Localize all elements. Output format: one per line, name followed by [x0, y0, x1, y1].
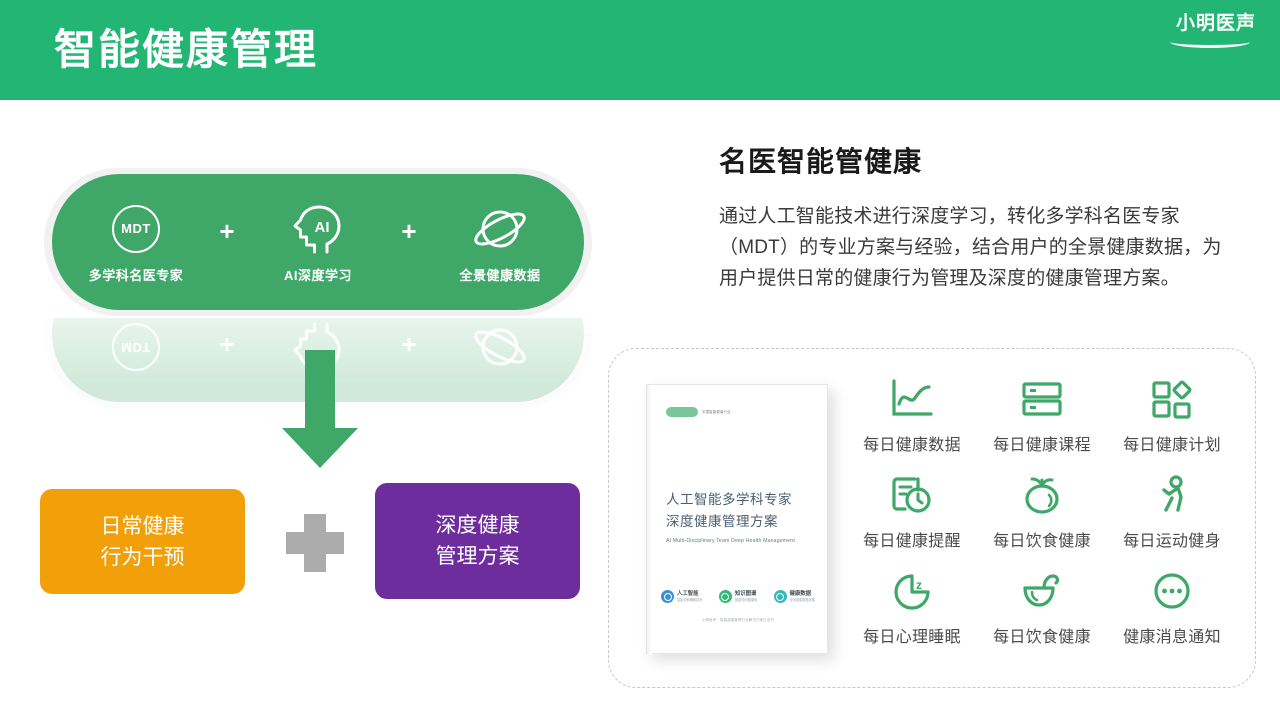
outcome-box-daily[interactable]: 日常健康 行为干预 [40, 489, 245, 594]
feature-cell-notification-label: 健康消息通知 [1123, 623, 1221, 647]
booklet-spine [647, 385, 652, 655]
capsule-item-ai: AI AI深度学习 [256, 201, 380, 284]
booklet-badge-3: 健康数据 全景健康数据采集 [774, 590, 816, 603]
booklet-logo-mark-icon [666, 407, 698, 417]
booklet-badge-2-name: 知识图谱 [735, 591, 757, 597]
feature-cell-health-reminder-label: 每日健康提醒 [863, 527, 961, 551]
tomato-icon [1020, 469, 1064, 521]
capsule-body: MDT 多学科名医专家 + AI AI深度学习 + [52, 174, 584, 310]
brand-logo-text: 小明医声 [1152, 12, 1256, 36]
booklet-badge-3-desc: 全景健康数据采集 [790, 597, 816, 603]
capsule-item-data: 全景健康数据 [438, 201, 562, 284]
booklet-badge-2-desc: 健康知识图谱库 [735, 597, 757, 603]
booklet-title: 人工智能多学科专家 深度健康管理方案 [666, 489, 816, 533]
capsule-item-mdt: MDT 多学科名医专家 [74, 201, 198, 284]
document-clock-icon [889, 469, 935, 521]
page-title: 智能健康管理 [54, 20, 318, 80]
svg-text:z: z [916, 578, 922, 592]
brand-logo-swoosh-icon [1170, 36, 1250, 48]
section-body-text: 通过人工智能技术进行深度学习，转化多学科名医专家（MDT）的专业方案与经验，结合… [719, 201, 1239, 294]
booklet-title-line1: 人工智能多学科专家 [666, 489, 816, 511]
feature-cell-exercise[interactable]: 每日运动健身 [1107, 469, 1237, 565]
booklet-badge-2-icon [719, 590, 732, 603]
feature-cell-health-plan[interactable]: 每日健康计划 [1107, 373, 1237, 469]
outcome-box-daily-line1: 日常健康 [101, 511, 185, 542]
feature-cell-diet-2[interactable]: 每日饮食健康 [977, 565, 1107, 661]
capsule-item-mdt-label: 多学科名医专家 [74, 265, 198, 284]
feature-cell-health-course-label: 每日健康课程 [993, 431, 1091, 455]
feature-cell-health-reminder[interactable]: 每日健康提醒 [847, 469, 977, 565]
feature-cell-health-course[interactable]: 每日健康课程 [977, 373, 1107, 469]
down-arrow-icon [278, 350, 362, 470]
plus-icon [286, 514, 344, 572]
planet-icon [438, 201, 562, 257]
brand-logo: 小明医声 [1152, 12, 1256, 46]
feature-cell-health-plan-label: 每日健康计划 [1123, 431, 1221, 455]
booklet-title-line2: 深度健康管理方案 [666, 511, 816, 533]
feature-cell-diet-1-label: 每日饮食健康 [993, 527, 1091, 551]
moon-sleep-icon: z [890, 565, 934, 617]
outcome-box-deep[interactable]: 深度健康 管理方案 [375, 483, 580, 599]
booklet-footer: 小明医声 · 智能健康管理行业解决方案白皮书 [647, 617, 829, 622]
line-chart-icon [889, 373, 935, 425]
feature-cell-diet-2-label: 每日饮食健康 [993, 623, 1091, 647]
mortar-bowl-icon [1019, 565, 1065, 617]
feature-cell-notification[interactable]: 健康消息通知 [1107, 565, 1237, 661]
server-list-icon [1020, 373, 1064, 425]
slide-root: 智能健康管理 小明医声 MDT 多学科名医专家 + [0, 0, 1280, 720]
booklet-badge-2: 知识图谱 健康知识图谱库 [719, 590, 757, 603]
mdt-circle-label: MDT [112, 205, 160, 253]
capsule-separator-2: + [380, 216, 438, 269]
feature-cell-sleep-label: 每日心理睡眠 [863, 623, 961, 647]
shapes-grid-icon [1150, 373, 1194, 425]
outcome-box-deep-line2: 管理方案 [436, 541, 520, 572]
feature-grid: 每日健康数据 每日健康课程 [847, 373, 1237, 663]
feature-cell-sleep[interactable]: z 每日心理睡眠 [847, 565, 977, 661]
outcome-box-deep-line1: 深度健康 [436, 510, 520, 541]
feature-cell-health-data[interactable]: 每日健康数据 [847, 373, 977, 469]
features-panel: 中国智能健康行业 人工智能多学科专家 深度健康管理方案 AI Multi-Dis… [608, 348, 1256, 688]
feature-cell-exercise-label: 每日运动健身 [1123, 527, 1221, 551]
capsule-separator-1: + [198, 216, 256, 269]
ai-head-icon: AI [256, 201, 380, 257]
booklet-logo: 中国智能健康行业 [666, 407, 738, 417]
mdt-circle-icon: MDT [74, 201, 198, 257]
page-header: 智能健康管理 小明医声 [0, 0, 1280, 100]
feature-cell-health-data-label: 每日健康数据 [863, 431, 961, 455]
booklet-badge-1-icon [661, 590, 674, 603]
running-person-icon [1152, 469, 1192, 521]
svg-text:AI: AI [315, 219, 330, 236]
booklet-logo-caption: 中国智能健康行业 [702, 410, 738, 415]
booklet-badge-1-name: 人工智能 [677, 591, 703, 597]
capsule-item-data-label: 全景健康数据 [438, 265, 562, 284]
dots-circle-icon [1151, 565, 1193, 617]
booklet-subtitle: AI Multi-Disciplinary Team Deep Health M… [666, 537, 818, 545]
outcome-box-daily-line2: 行为干预 [101, 542, 185, 573]
section-title: 名医智能管健康 [719, 140, 922, 180]
booklet-badge-1: 人工智能 智能诊断辅助技术 [661, 590, 703, 603]
booklet-badges: 人工智能 智能诊断辅助技术 知识图谱 健康知识图谱库 健康数据 全景健康数据 [661, 590, 815, 603]
booklet-cover: 中国智能健康行业 人工智能多学科专家 深度健康管理方案 AI Multi-Dis… [646, 384, 828, 654]
booklet-badge-1-desc: 智能诊断辅助技术 [677, 597, 703, 603]
capability-capsule: MDT 多学科名医专家 + AI AI深度学习 + [44, 168, 592, 316]
booklet-badge-3-icon [774, 590, 787, 603]
capsule-item-ai-label: AI深度学习 [256, 265, 380, 284]
feature-cell-diet-1[interactable]: 每日饮食健康 [977, 469, 1107, 565]
